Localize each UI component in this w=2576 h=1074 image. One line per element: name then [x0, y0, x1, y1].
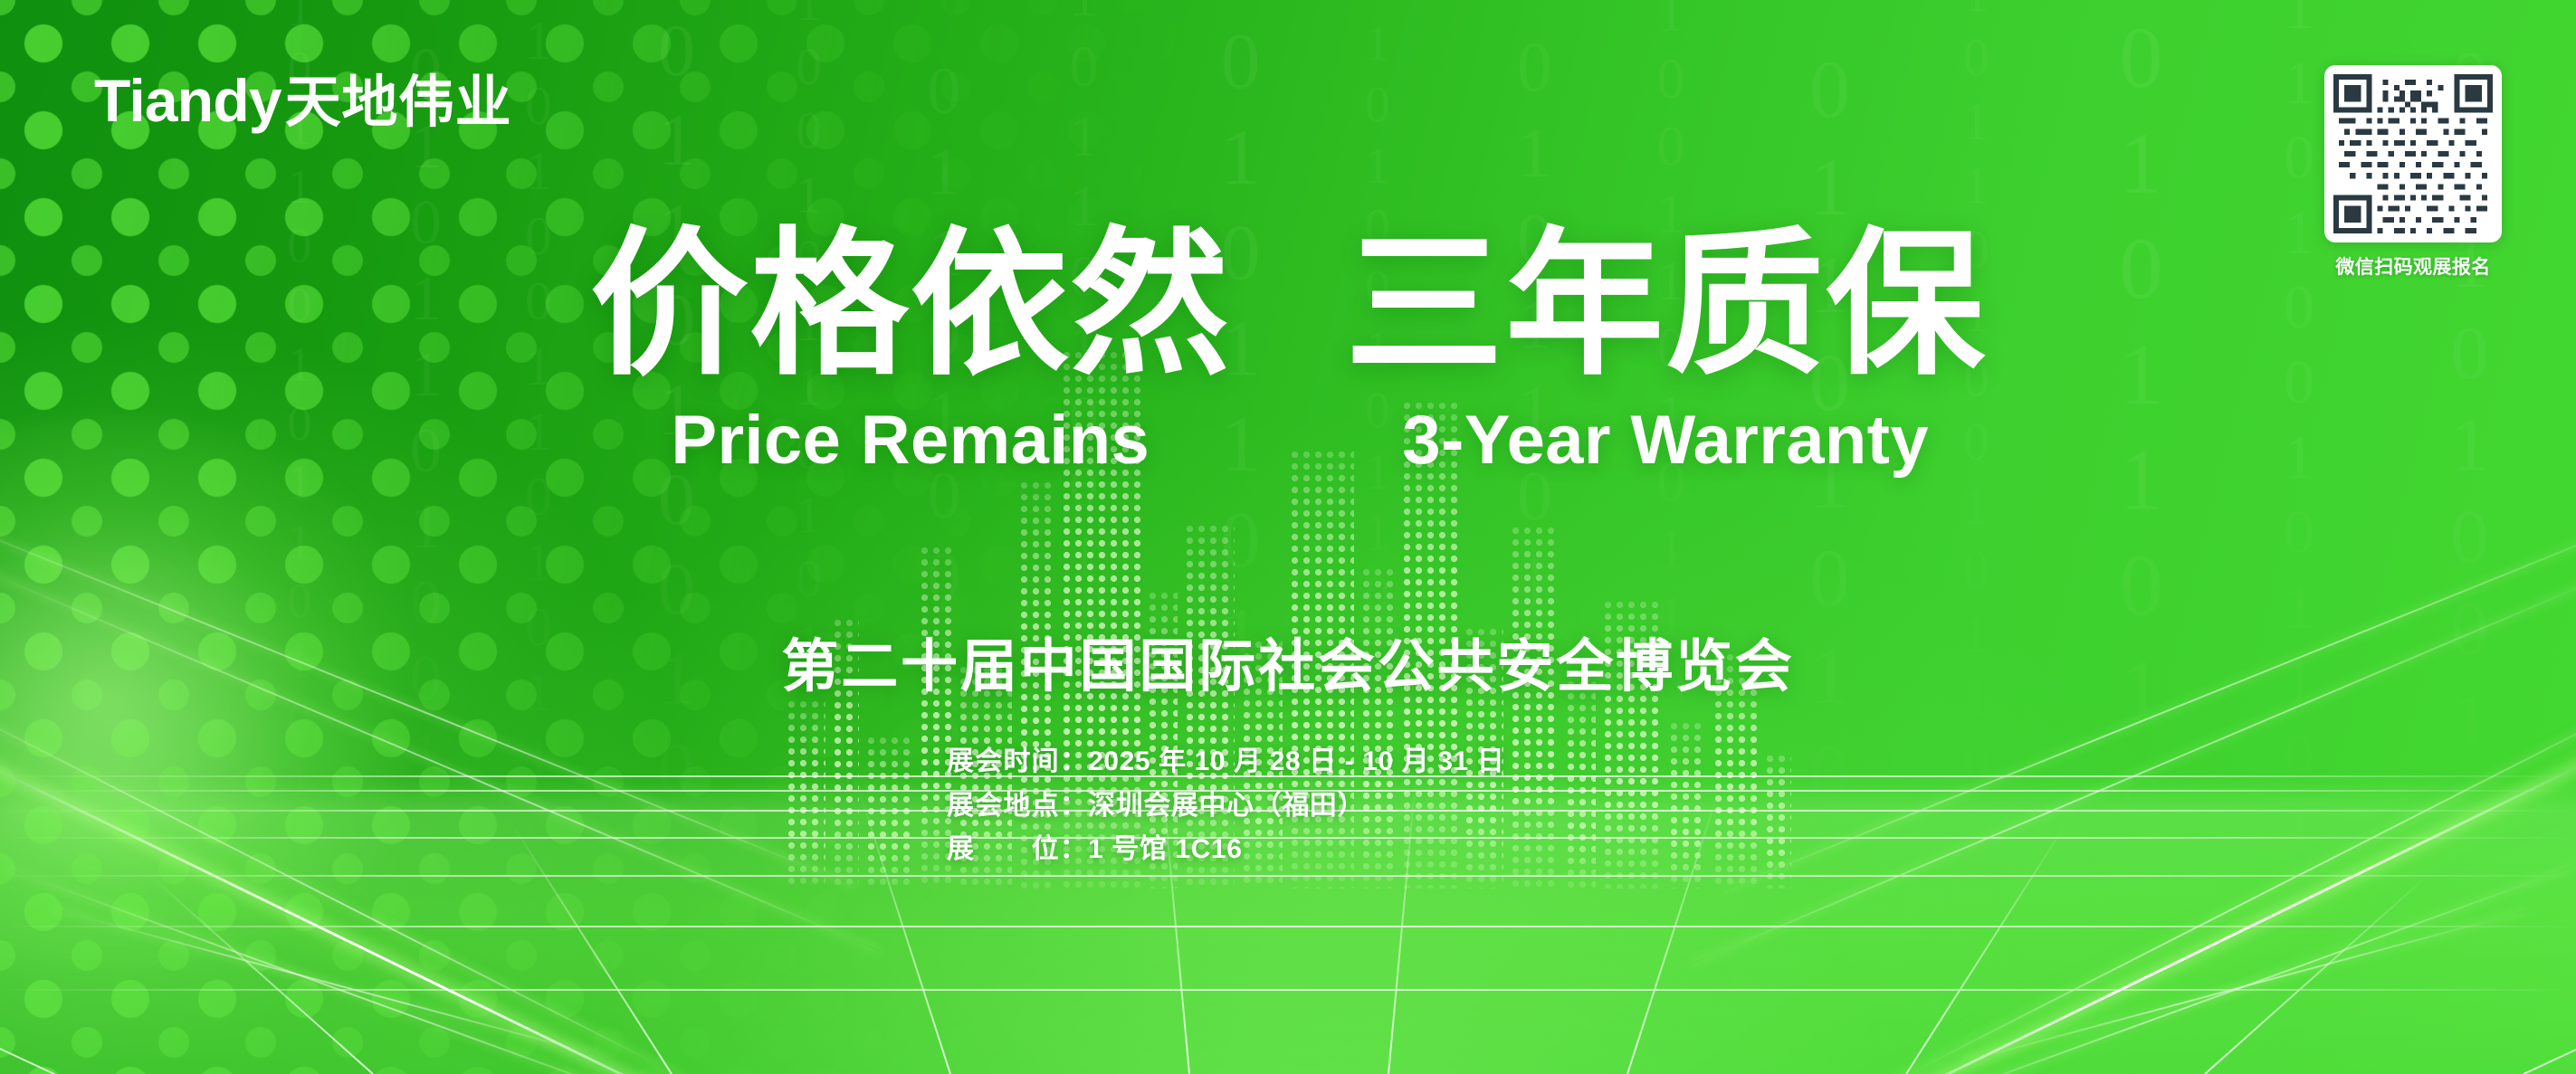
promo-banner: 1011001011010110010110100110111010011010…: [0, 0, 2576, 1074]
expo-detail-label: 展会地点：: [947, 791, 1088, 821]
expo-detail-label: 展会时间：: [947, 746, 1088, 776]
expo-detail-value: 深圳会展中心（福田）: [1088, 791, 1365, 821]
headline-group: 价格依然 Price Remains 三年质保 3-Year Warranty: [0, 226, 2576, 475]
logo-text-cn: 天地伟业: [285, 75, 511, 131]
expo-detail-row: 展 位：1 号馆 1C16: [947, 828, 1504, 872]
expo-detail-row: 展会时间：2025 年 10 月 28 日 - 10 月 31 日: [947, 740, 1504, 784]
expo-title: 第二十届中国国际社会公共安全博览会: [0, 621, 2576, 703]
headline-right-en: 3-Year Warranty: [1345, 406, 1986, 475]
headline-left-en: Price Remains: [590, 406, 1231, 475]
logo-text-en: Tiandy: [94, 71, 281, 130]
headline-right: 三年质保 3-Year Warranty: [1345, 226, 1986, 475]
headline-left: 价格依然 Price Remains: [590, 226, 1231, 475]
expo-detail-row: 展会地点：深圳会展中心（福田）: [947, 784, 1504, 829]
headline-left-cn: 价格依然: [590, 226, 1231, 385]
headline-right-cn: 三年质保: [1345, 226, 1986, 385]
expo-detail-label: 展 位：: [947, 834, 1088, 864]
qr-code-icon[interactable]: [2324, 65, 2502, 242]
expo-detail-value: 2025 年 10 月 28 日 - 10 月 31 日: [1088, 746, 1504, 776]
brand-logo: Tiandy 天地伟业: [94, 71, 511, 131]
expo-detail-value: 1 号馆 1C16: [1088, 834, 1242, 864]
expo-details: 展会时间：2025 年 10 月 28 日 - 10 月 31 日展会地点：深圳…: [947, 740, 1504, 872]
